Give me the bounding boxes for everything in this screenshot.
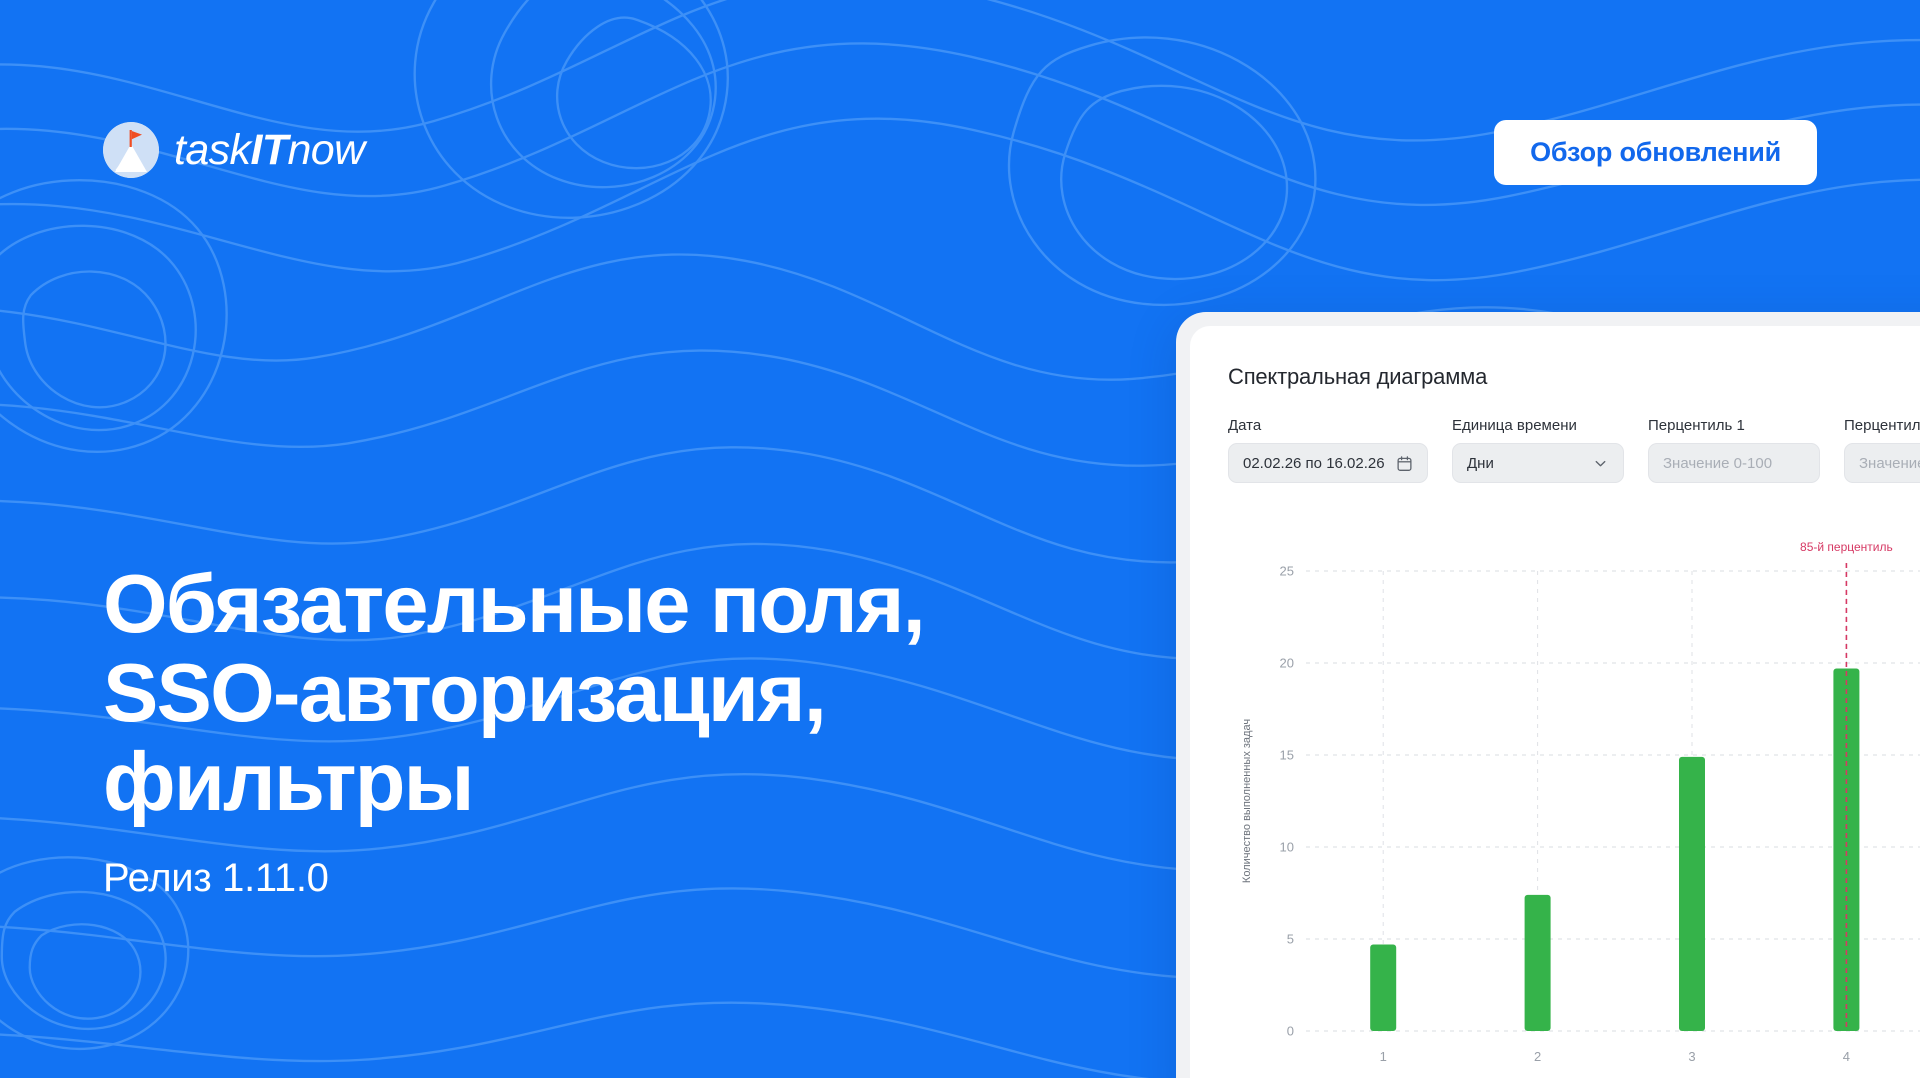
time-unit-value: Дни [1467, 455, 1494, 472]
brand-logo[interactable]: taskITnow [103, 122, 365, 178]
date-range-input[interactable]: 02.02.26 по 16.02.26 [1228, 443, 1428, 483]
x-axis-tick: 2 [1534, 1049, 1541, 1064]
hero-section: Обязательные поля, SSO-авторизация, филь… [103, 560, 1113, 901]
chart-bar[interactable] [1833, 669, 1859, 1031]
filter-time-unit-label: Единица времени [1452, 417, 1624, 434]
x-axis-tick: 3 [1688, 1049, 1695, 1064]
percentile-annotation-label: 85-й перцентиль [1800, 540, 1893, 554]
percentile-2-input[interactable]: Значение 0-100 [1844, 443, 1920, 483]
y-axis-tick: 5 [1287, 932, 1294, 947]
logo-text-task: task [174, 126, 250, 174]
y-axis-tick: 0 [1287, 1024, 1294, 1039]
app-panel: Спектральная диаграмма Дата 02.02.26 по … [1190, 326, 1920, 1078]
logo-text-it: IT [250, 126, 287, 174]
y-axis-tick: 20 [1280, 656, 1294, 671]
chart-bar[interactable] [1370, 945, 1396, 1031]
filter-bar: Дата 02.02.26 по 16.02.26 Единица времен… [1228, 417, 1920, 483]
spectral-bar-chart: 051015202512345Количество выполненных за… [1228, 519, 1920, 1078]
filter-percentile-2: Перцентиль 2 Значение 0-100 [1844, 417, 1920, 483]
panel-title: Спектральная диаграмма [1228, 364, 1920, 390]
chart-bar[interactable] [1525, 895, 1551, 1031]
x-axis-tick: 1 [1380, 1049, 1387, 1064]
app-screenshot-card: Спектральная диаграмма Дата 02.02.26 по … [1176, 312, 1920, 1078]
filter-percentile-2-label: Перцентиль 2 [1844, 417, 1920, 434]
x-axis-tick: 4 [1843, 1049, 1850, 1064]
calendar-icon[interactable] [1396, 455, 1413, 472]
page-header: taskITnow Обзор обновлений [0, 0, 1920, 250]
filter-percentile-1-label: Перцентиль 1 [1648, 417, 1820, 434]
percentile-1-placeholder: Значение 0-100 [1663, 455, 1772, 472]
page-title: Обязательные поля, SSO-авторизация, филь… [103, 560, 1113, 826]
updates-overview-button[interactable]: Обзор обновлений [1494, 120, 1817, 185]
mountain-flag-icon [103, 122, 159, 178]
filter-date: Дата 02.02.26 по 16.02.26 [1228, 417, 1428, 483]
percentile-2-placeholder: Значение 0-100 [1859, 455, 1920, 472]
chart-bar[interactable] [1679, 757, 1705, 1031]
release-version-label: Релиз 1.11.0 [103, 856, 1113, 901]
filter-time-unit: Единица времени Дни [1452, 417, 1624, 483]
percentile-1-input[interactable]: Значение 0-100 [1648, 443, 1820, 483]
chevron-down-icon[interactable] [1592, 455, 1609, 472]
filter-date-label: Дата [1228, 417, 1428, 434]
y-axis-title: Количество выполненных задач [1241, 719, 1253, 883]
brand-logo-text: taskITnow [174, 129, 365, 172]
y-axis-tick: 15 [1280, 748, 1294, 763]
date-range-value: 02.02.26 по 16.02.26 [1243, 455, 1385, 472]
logo-text-now: now [287, 126, 364, 174]
y-axis-tick: 25 [1280, 564, 1294, 579]
time-unit-select[interactable]: Дни [1452, 443, 1624, 483]
y-axis-tick: 10 [1280, 840, 1294, 855]
filter-percentile-1: Перцентиль 1 Значение 0-100 [1648, 417, 1820, 483]
